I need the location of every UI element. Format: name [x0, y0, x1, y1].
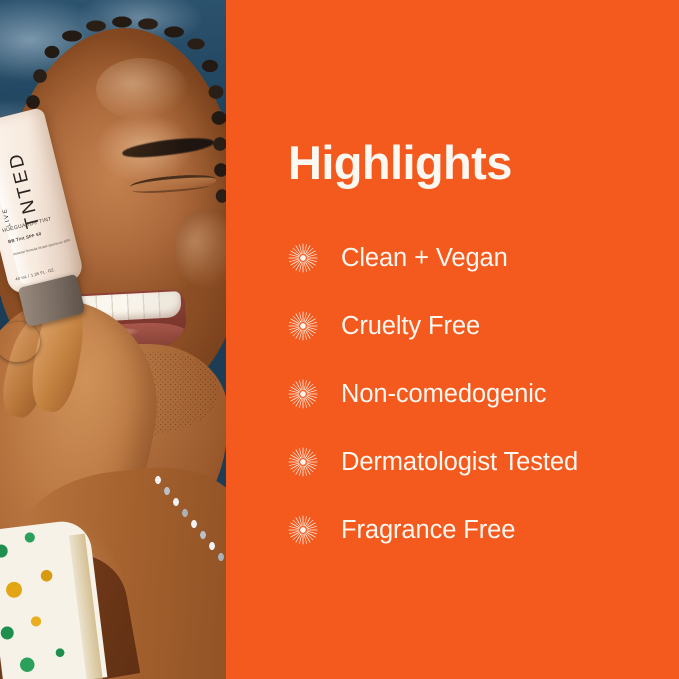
list-item: Cruelty Free	[288, 292, 668, 360]
product-highlights-graphic: TNTED LIVE HUEGUARD® TINT BB Tint SPF 50…	[0, 0, 679, 679]
highlight-label: Clean + Vegan	[341, 244, 508, 273]
sunburst-icon	[288, 243, 318, 273]
sunburst-icon	[288, 515, 318, 545]
necklace-chain	[148, 474, 226, 574]
highlight-label: Dermatologist Tested	[341, 448, 578, 477]
list-item: Dermatologist Tested	[288, 428, 668, 496]
nose	[176, 210, 226, 288]
page-title: Highlights	[288, 139, 512, 186]
list-item: Non-comedogenic	[288, 360, 668, 428]
list-item: Fragrance Free	[288, 496, 668, 564]
highlight-label: Cruelty Free	[341, 312, 480, 341]
sunburst-icon	[288, 447, 318, 477]
highlights-list: Clean + VeganCruelty FreeNon-comedogenic…	[288, 224, 668, 564]
highlight-label: Non-comedogenic	[341, 380, 546, 409]
highlights-panel: Highlights Clean + VeganCruelty FreeNon-…	[226, 0, 679, 679]
sunburst-icon	[288, 311, 318, 341]
list-item: Clean + Vegan	[288, 224, 668, 292]
highlight-label: Fragrance Free	[341, 516, 515, 545]
model-photo: TNTED LIVE HUEGUARD® TINT BB Tint SPF 50…	[0, 0, 226, 679]
product-tube: TNTED LIVE HUEGUARD® TINT BB Tint SPF 50…	[0, 107, 93, 327]
sunburst-icon	[288, 379, 318, 409]
